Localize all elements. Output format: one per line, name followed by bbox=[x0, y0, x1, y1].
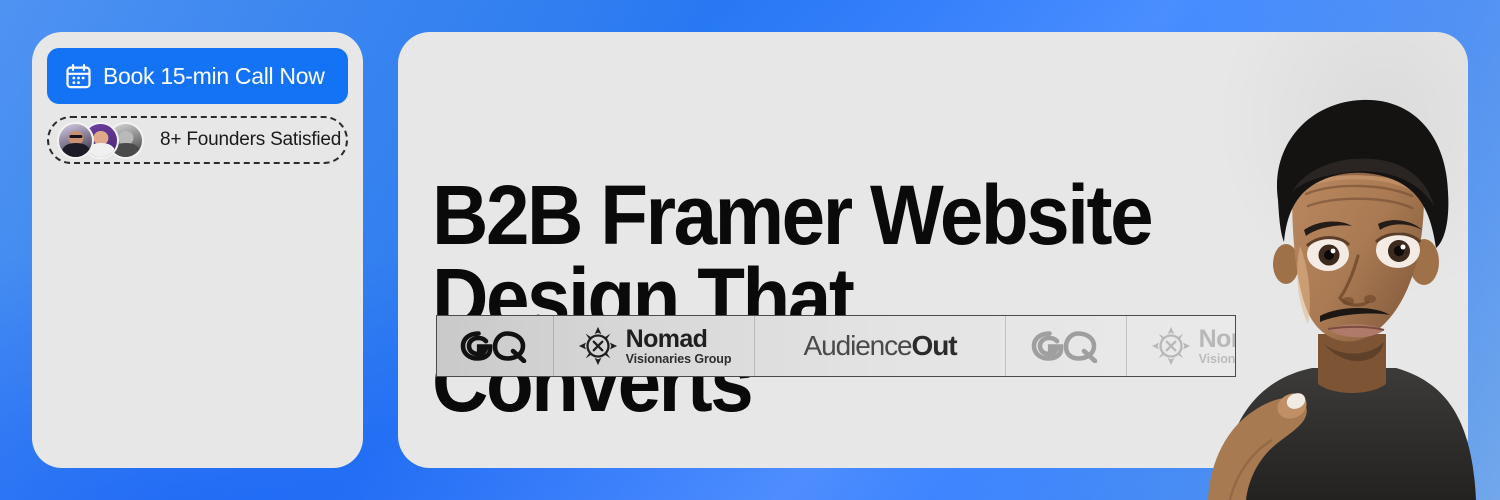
nomad-logo: Nomad Visionaries Group bbox=[554, 316, 754, 376]
book-call-label: Book 15-min Call Now bbox=[103, 63, 325, 90]
nomad-logo-repeat-name: Nomad bbox=[1199, 327, 1236, 352]
calendar-icon bbox=[65, 63, 92, 90]
founder-avatar-1 bbox=[57, 122, 94, 159]
gq-infinity-logo-repeat bbox=[1006, 316, 1126, 376]
right-card: B2B Framer Website Design That Converts bbox=[398, 32, 1468, 468]
audienceout-logo: AudienceOut bbox=[755, 316, 1005, 376]
client-logo-strip: Nomad Visionaries Group AudienceOut bbox=[436, 315, 1236, 377]
left-card: Book 15-min Call Now 8+ Founders Satisfi… bbox=[32, 32, 363, 468]
social-proof-label: 8+ Founders Satisfied bbox=[160, 129, 341, 151]
nomad-logo-repeat-subtitle: Visionaries Group bbox=[1199, 353, 1236, 366]
promo-banner: Book 15-min Call Now 8+ Founders Satisfi… bbox=[0, 0, 1500, 500]
compass-icon bbox=[577, 325, 619, 367]
nomad-logo-repeat: Nomad Visionaries Group bbox=[1127, 316, 1236, 376]
nomad-logo-name: Nomad bbox=[626, 327, 732, 352]
page-title: B2B Framer Website Design That Converts bbox=[432, 174, 1176, 423]
avatar-group bbox=[57, 122, 144, 159]
audienceout-light: Audience bbox=[804, 330, 912, 361]
book-call-button[interactable]: Book 15-min Call Now bbox=[47, 48, 348, 104]
audienceout-bold: Out bbox=[912, 330, 957, 361]
gq-infinity-logo bbox=[437, 316, 553, 376]
social-proof-badge: 8+ Founders Satisfied bbox=[47, 116, 348, 164]
nomad-logo-subtitle: Visionaries Group bbox=[626, 353, 732, 366]
photo-shadow bbox=[1128, 32, 1468, 468]
compass-icon bbox=[1150, 325, 1192, 367]
